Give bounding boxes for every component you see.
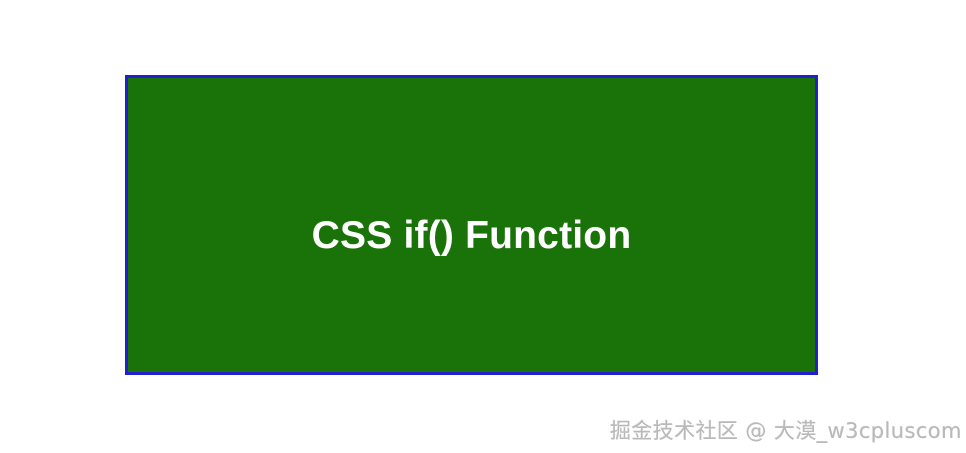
watermark-credit: 掘金技术社区 @ 大漠_w3cpluscom — [610, 421, 962, 442]
demo-box-label: CSS if() Function — [312, 216, 632, 255]
page-canvas: CSS if() Function 掘金技术社区 @ 大漠_w3cpluscom — [0, 0, 966, 453]
css-if-demo-box: CSS if() Function — [125, 75, 818, 375]
